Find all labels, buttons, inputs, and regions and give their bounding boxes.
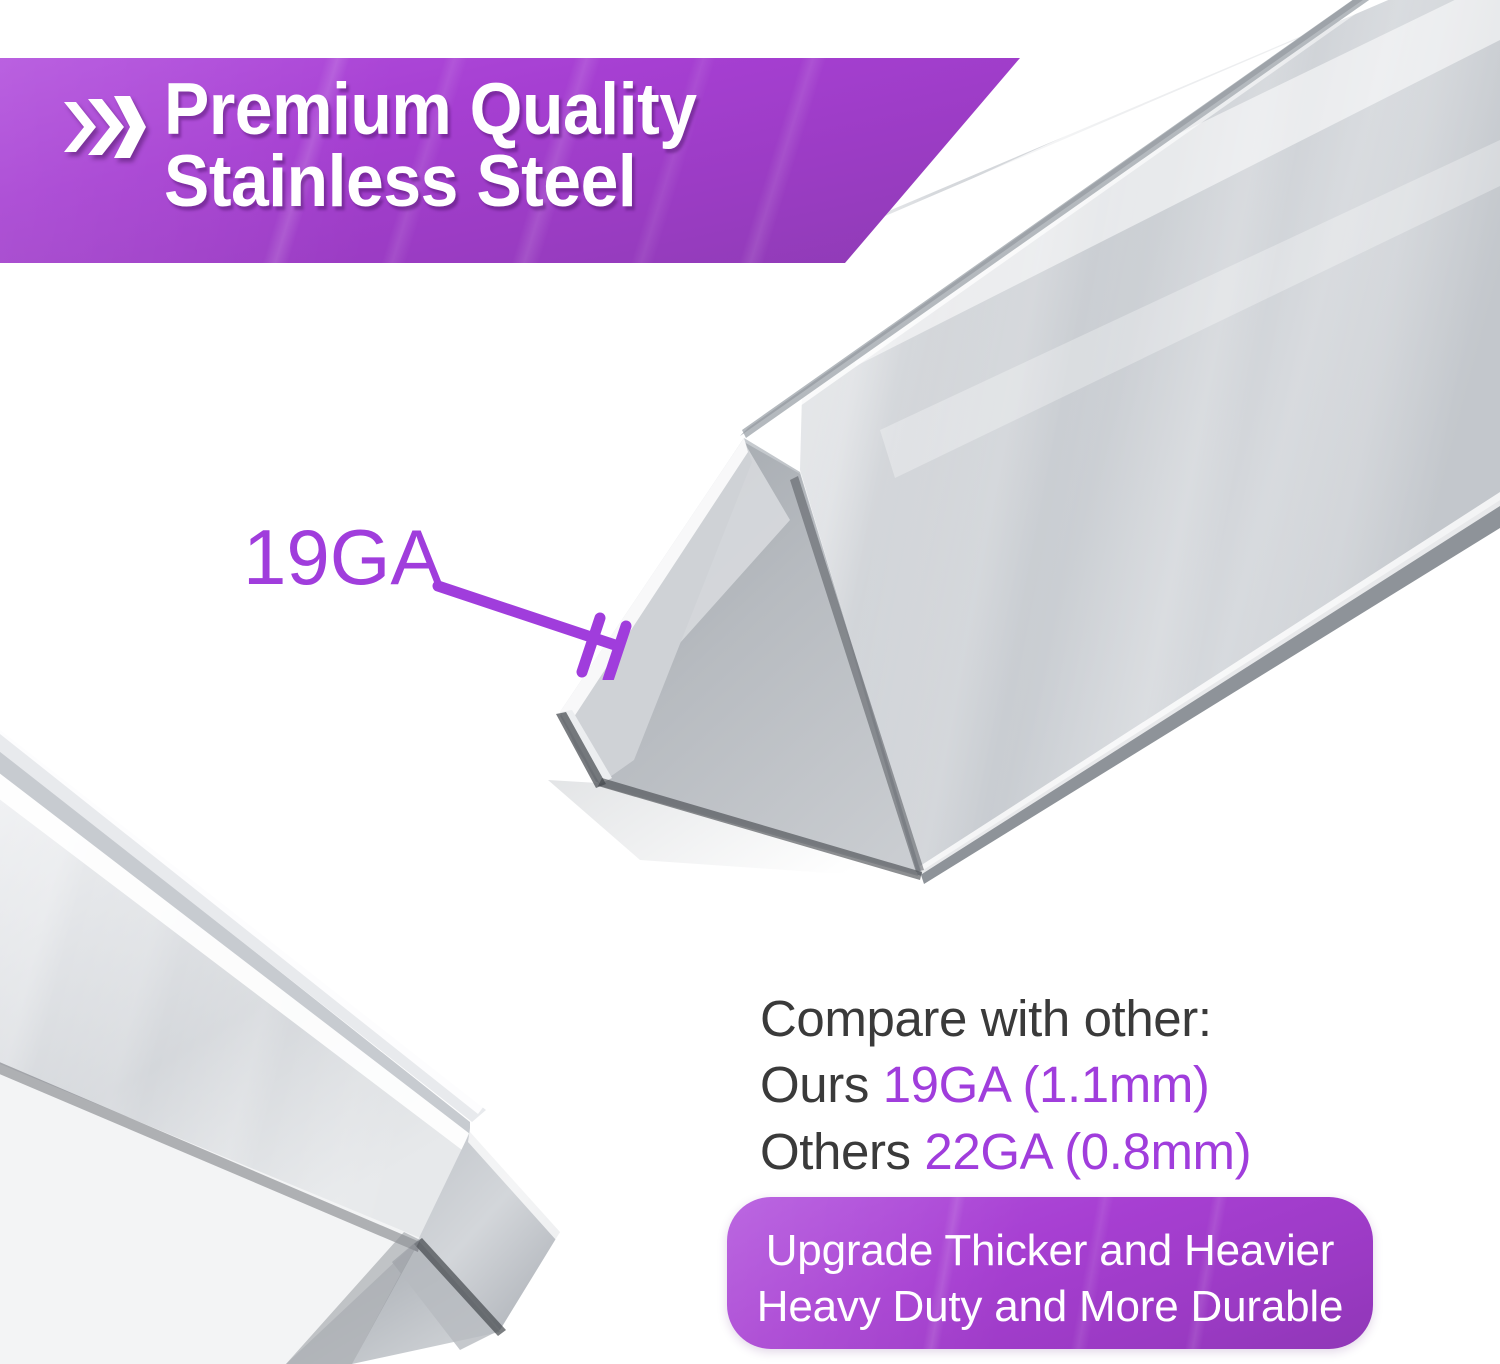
gauge-callout-label: 19GA [243, 512, 442, 603]
comparison-ours-row: Ours 19GA (1.1mm) [760, 1052, 1251, 1118]
dimension-leader-line-icon [430, 560, 650, 680]
comparison-others-value: 22GA (0.8mm) [924, 1123, 1251, 1180]
triple-chevron-right-icon [62, 94, 146, 165]
comparison-others-prefix: Others [760, 1123, 924, 1180]
comparison-others-row: Others 22GA (0.8mm) [760, 1119, 1251, 1185]
comparison-heading: Compare with other: [760, 986, 1251, 1052]
comparison-text: Compare with other: Ours 19GA (1.1mm) Ot… [760, 986, 1251, 1185]
comparison-ours-value: 19GA (1.1mm) [883, 1056, 1210, 1113]
product-infographic: Premium Quality Stainless Steel 19GA Com… [0, 0, 1500, 1364]
comparison-ours-prefix: Ours [760, 1056, 883, 1113]
promo-badge: Upgrade Thicker and Heavier Heavy Duty a… [727, 1197, 1373, 1349]
header-banner: Premium Quality Stainless Steel [0, 58, 1020, 263]
promo-badge-text: Upgrade Thicker and Heavier Heavy Duty a… [727, 1197, 1373, 1336]
banner-title: Premium Quality Stainless Steel [164, 74, 697, 219]
stainless-steel-flavorizer-bar-secondary [0, 716, 562, 1364]
